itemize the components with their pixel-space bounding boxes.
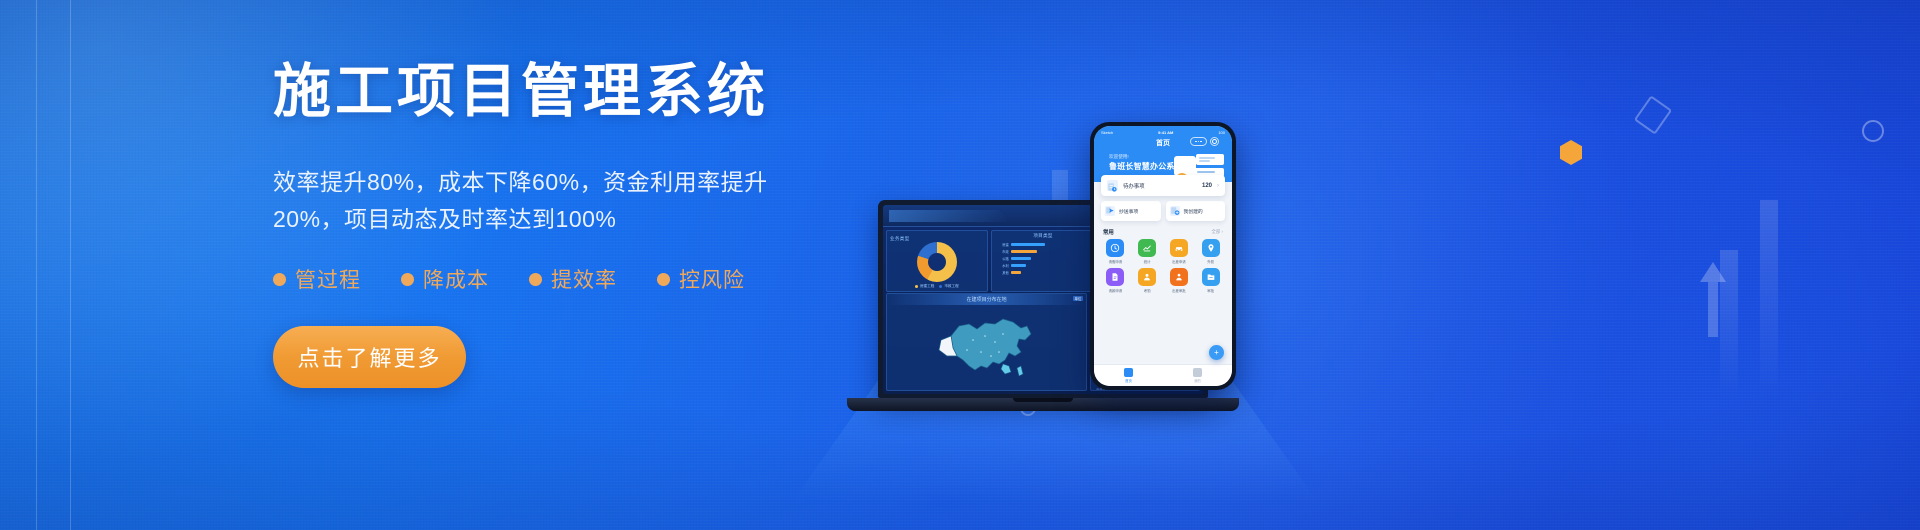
cc-items-tile[interactable]: 抄送事项 [1101,201,1161,221]
legend-entry: 房建工程 [915,284,934,289]
feature-item-1: 管过程 [273,264,361,294]
app-label: 请款申请 [1109,288,1123,293]
app-label: 审批 [1207,288,1214,293]
feature-label: 管过程 [295,264,361,294]
tab-home[interactable]: 首页 [1124,368,1133,383]
floating-action-button[interactable]: + [1209,345,1224,360]
bullet-dot-icon [529,273,542,286]
bullet-dot-icon [657,273,670,286]
app-label: 请假申请 [1109,259,1123,264]
bar-row: 公路 [995,256,1092,261]
tile-label: 我创建的 [1184,208,1203,215]
bullet-dot-icon [273,273,286,286]
target-icon[interactable] [1210,137,1219,146]
feature-label: 降成本 [423,264,489,294]
app-label: 出差审批 [1172,288,1186,293]
send-icon [1105,206,1115,216]
bar-row: 其他 [995,270,1092,275]
phone-header: Sketch 9:41 AM 100 首页 欢迎使用! 鲁班长智慧办公系统 [1094,126,1232,182]
feature-item-2: 降成本 [401,264,489,294]
app-item-travel[interactable]: 出差申请 [1165,239,1194,264]
clock-icon [1106,239,1124,257]
quick-tiles: 抄送事项 我创建的 [1101,201,1225,221]
bars-panel-title: 项目类型 [992,231,1095,239]
app-label: 统计 [1144,259,1151,264]
business-type-pie-panel[interactable]: 业务类型 房建工程 市政工程 [886,230,988,292]
tile-label: 抄送事项 [1119,208,1138,215]
todo-label: 待办事项 [1123,182,1197,190]
laptop-base [847,398,1239,411]
app-label: 外勤 [1207,259,1214,264]
banner-root: 施工项目管理系统 效率提升80%，成本下降60%，资金利用率提升20%，项目动态… [0,0,1920,530]
tab-profile[interactable]: 我的 [1193,368,1202,383]
tab-label: 我的 [1194,378,1201,383]
app-label: 出差申请 [1172,259,1186,264]
feature-item-4: 控风险 [657,264,745,294]
todo-card[interactable]: 待办事项 120 › [1101,175,1225,196]
app-item-leave[interactable]: 请假申请 [1101,239,1130,264]
home-icon [1124,368,1133,377]
created-by-me-tile[interactable]: 我创建的 [1166,201,1226,221]
feature-label: 控风险 [679,264,745,294]
phone-nav-bar: 首页 [1101,135,1225,150]
project-type-bars-panel[interactable]: 项目类型 房建 市政 公路 水利 其他 [991,230,1096,292]
laptop-notch [1013,398,1073,402]
feature-label: 提效率 [551,264,617,294]
phone-tab-bar: 首页 我的 [1094,364,1232,386]
legend-entry: 市政工程 [939,284,958,289]
app-label: 考勤 [1144,288,1151,293]
phone-device: Sketch 9:41 AM 100 首页 欢迎使用! 鲁班长智慧办公系统 [1090,122,1236,390]
folder-icon [1202,268,1220,286]
doc-icon [1106,268,1124,286]
tab-label: 首页 [1125,378,1132,383]
section-title: 常用 [1103,228,1114,236]
app-item-approval[interactable]: 审批 [1196,268,1225,293]
app-item-field[interactable]: 外勤 [1196,239,1225,264]
profile-icon [1193,368,1202,377]
car-icon [1170,239,1188,257]
pie-chart [917,242,957,282]
bar-row: 市政 [995,249,1092,254]
app-item-trip-approval[interactable]: 出差审批 [1165,268,1194,293]
more-icon[interactable] [1190,137,1207,146]
bullet-dot-icon [401,273,414,286]
bar-row: 水利 [995,263,1092,268]
device-cluster: 市场管理报表 业务类型 房建工程 市政工程 [800,100,1360,500]
app-item-stats[interactable]: 统计 [1133,239,1162,264]
chevron-right-icon: › [1217,183,1219,189]
learn-more-button[interactable]: 点击了解更多 [273,326,466,388]
app-grid: 请假申请 统计 出差申请 [1094,239,1232,293]
map-badge: 单位 [1073,296,1084,301]
phone-screen: Sketch 9:41 AM 100 首页 欢迎使用! 鲁班长智慧办公系统 [1094,126,1232,386]
bar-row: 房建 [995,242,1092,247]
map-title: 在建项目分布在地 [887,294,1086,305]
person-icon [1138,268,1156,286]
horizontal-bars: 房建 市政 公路 水利 其他 [992,239,1095,278]
chart-icon [1138,239,1156,257]
user-icon [1170,268,1188,286]
plus-doc-icon [1170,206,1180,216]
pin-icon [1202,239,1220,257]
nav-title: 首页 [1156,140,1170,147]
pie-panel-title: 业务类型 [887,234,913,242]
section-more-link[interactable]: 全部 › [1212,229,1223,235]
nav-actions [1190,137,1219,146]
banner-subtitle: 效率提升80%，成本下降60%，资金利用率提升20%，项目动态及时率达到100% [273,164,793,239]
app-item-payment[interactable]: 请款申请 [1101,268,1130,293]
todo-list-icon [1107,180,1118,191]
pie-legend: 房建工程 市政工程 [915,284,959,289]
feature-item-3: 提效率 [529,264,617,294]
app-item-attendance[interactable]: 考勤 [1133,268,1162,293]
china-map-icon [933,306,1041,382]
todo-count: 120 [1202,183,1212,189]
project-map-panel[interactable]: 在建项目分布在地 单位 [886,293,1087,391]
common-section-header: 常用 全部 › [1103,228,1223,236]
